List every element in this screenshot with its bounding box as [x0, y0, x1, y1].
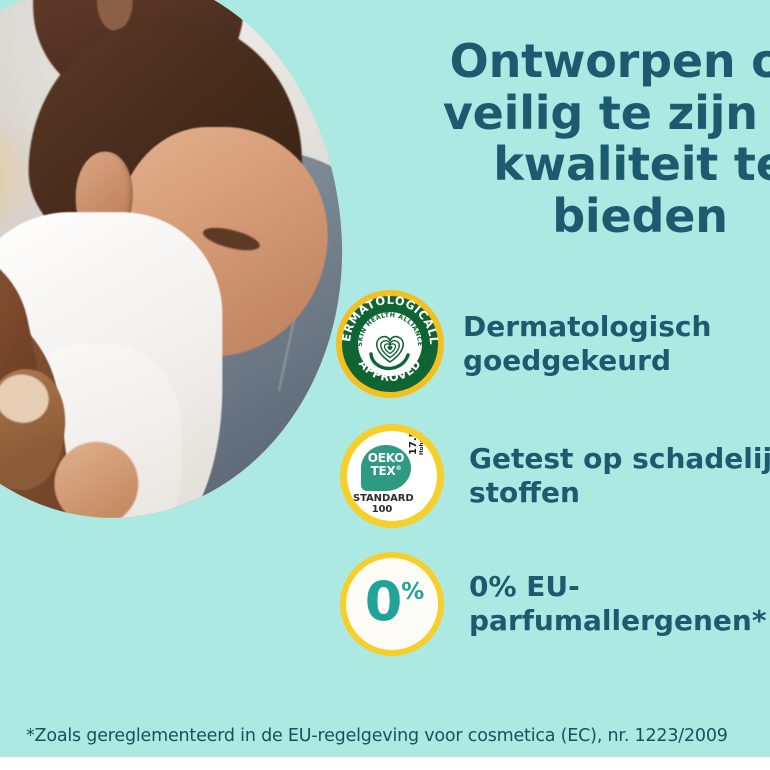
zero-percent-badge-icon: 0%	[340, 552, 444, 656]
page-title-line-3: kwaliteit te	[340, 139, 770, 191]
oeko-certificate-block: 17.HCH.22181 Hohenstein HTTI	[409, 431, 425, 455]
feature-label-getest: Getest op schadelijke stoffen	[469, 442, 770, 509]
dermatologically-approved-badge-icon: DERMATOLOGICALLY APPROVED SKIN HEALTH AL…	[336, 290, 444, 398]
feature-zero-eu-perfume-allergens: 0% 0% EU- parfumallergenen*	[340, 552, 766, 656]
badge-white-center: 0%	[346, 558, 438, 650]
feature-label-line-1: Dermatologisch	[463, 310, 711, 343]
feature-label-line-2: goedgekeurd	[463, 344, 671, 377]
page-title-line-4: bieden	[340, 191, 770, 243]
percent-sign: %	[401, 579, 423, 605]
page-title-line-2: veilig te zijn en	[340, 88, 770, 140]
feature-label-line-1: Getest op schadelijke	[469, 442, 770, 475]
skin-health-alliance-text: SKIN HEALTH ALLIANCE	[356, 311, 424, 347]
oeko-tex-badge-icon: OEKO TEX® STANDARD 100 17.HCH.22181 Hohe…	[340, 424, 444, 528]
footnote: *Zoals gereglementeerd in de EU-regelgev…	[26, 726, 728, 746]
heart-fingerprint-icon	[371, 337, 408, 369]
oeko-standard-text: STANDARD 100	[353, 493, 411, 515]
feature-label-line-2: stoffen	[469, 476, 580, 509]
oeko-standard-line-2: 100	[372, 504, 393, 515]
badge-inner-arc-text: SKIN HEALTH ALLIANCE	[336, 290, 444, 398]
oeko-tex-leaf-shape: OEKO TEX®	[361, 445, 411, 491]
zero-value: 0	[365, 570, 402, 633]
feature-label-line-2: parfumallergenen*	[469, 604, 766, 637]
oeko-registered-mark: ®	[396, 465, 402, 472]
feature-label-parfumallergenen: 0% EU- parfumallergenen*	[469, 570, 766, 637]
page-title-line-1: Ontworpen om	[340, 36, 770, 88]
zero-percent-text: 0%	[365, 575, 424, 629]
oeko-standard-line-1: STANDARD	[353, 493, 414, 504]
baby-hand	[54, 442, 138, 527]
promo-banner: Ontworpen om veilig te zijn en kwaliteit…	[0, 0, 770, 770]
baby-photo-blob	[0, 0, 356, 530]
feature-tested-for-harmful-substances: OEKO TEX® STANDARD 100 17.HCH.22181 Hohe…	[340, 424, 770, 528]
badge-white-center: OEKO TEX® STANDARD 100 17.HCH.22181 Hohe…	[347, 431, 437, 521]
baby-photo	[0, 0, 356, 530]
oeko-tex-brand-text: OEKO TEX®	[361, 452, 411, 478]
feature-label-line-1: 0% EU-	[469, 570, 580, 603]
oeko-brand-line-2: TEX	[371, 464, 396, 478]
page-title: Ontworpen om veilig te zijn en kwaliteit…	[340, 36, 770, 242]
oeko-certificate-number: 17.HCH.22181	[409, 431, 419, 455]
oeko-brand-line-1: OEKO	[368, 451, 405, 465]
feature-dermatologically-approved: DERMATOLOGICALLY APPROVED SKIN HEALTH AL…	[336, 290, 711, 398]
feature-label-dermatologisch: Dermatologisch goedgekeurd	[463, 310, 711, 377]
oeko-institute-name: Hohenstein HTTI	[419, 431, 426, 455]
bottom-white-strip	[0, 757, 770, 770]
